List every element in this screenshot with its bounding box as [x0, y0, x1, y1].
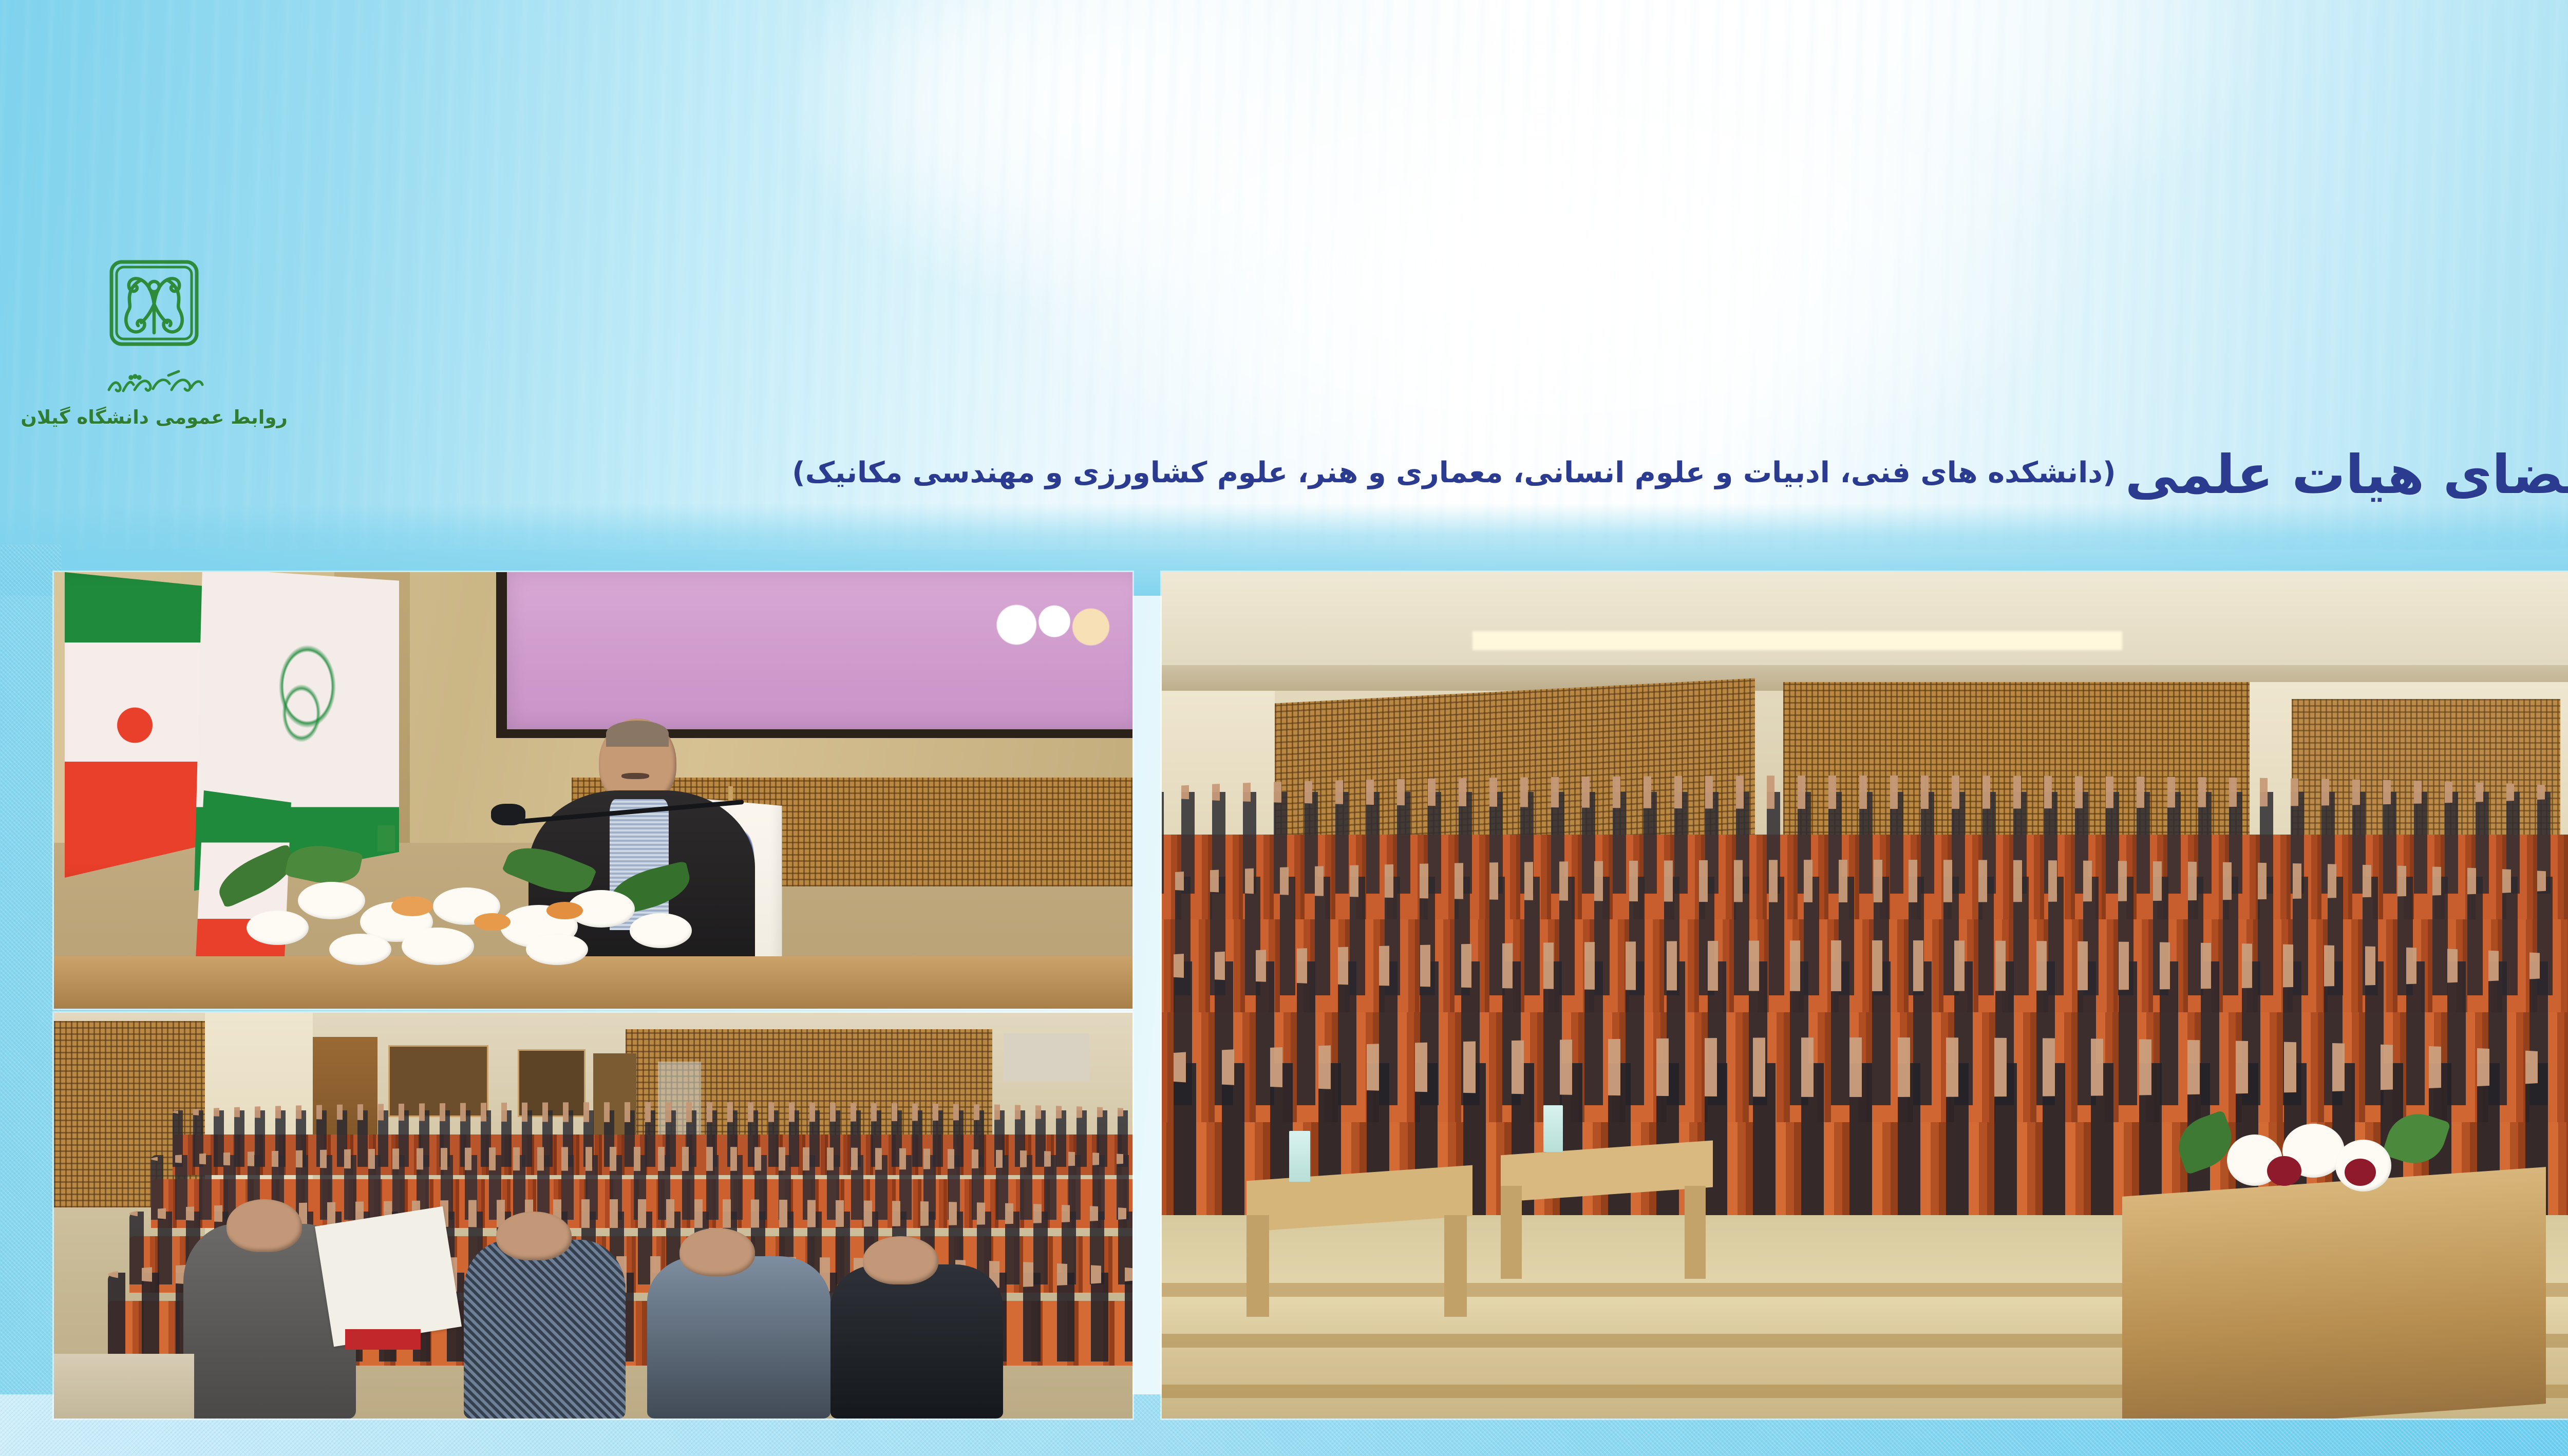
university-of-gilan-logo-icon	[105, 257, 203, 362]
photo-podium[interactable]	[54, 572, 1132, 1009]
event-title-faculties: (دانشکده های فنی، ادبیات و علوم انسانی، …	[792, 459, 2116, 490]
event-title: نشست هم اندیشی رئیس دانشگاه با اعضای هیا…	[565, 430, 2568, 519]
photo-hall-center-scene	[1162, 572, 2568, 1419]
photo-audience-bottom-left-scene	[54, 1013, 1132, 1419]
logo-wordmark-gilan-icon	[103, 367, 205, 397]
photo-podium-scene	[54, 572, 1132, 1009]
photo-hall-center[interactable]	[1162, 572, 2568, 1419]
photo-audience-bottom-left[interactable]	[54, 1013, 1132, 1419]
university-logo-block: روابط عمومی دانشگاه گیلان	[21, 257, 288, 428]
event-title-main: نشست هم اندیشی رئیس دانشگاه با اعضای هیا…	[2125, 448, 2568, 501]
left-mesh-texture	[0, 544, 62, 1428]
public-relations-credit: روابط عمومی دانشگاه گیلان	[21, 406, 288, 428]
